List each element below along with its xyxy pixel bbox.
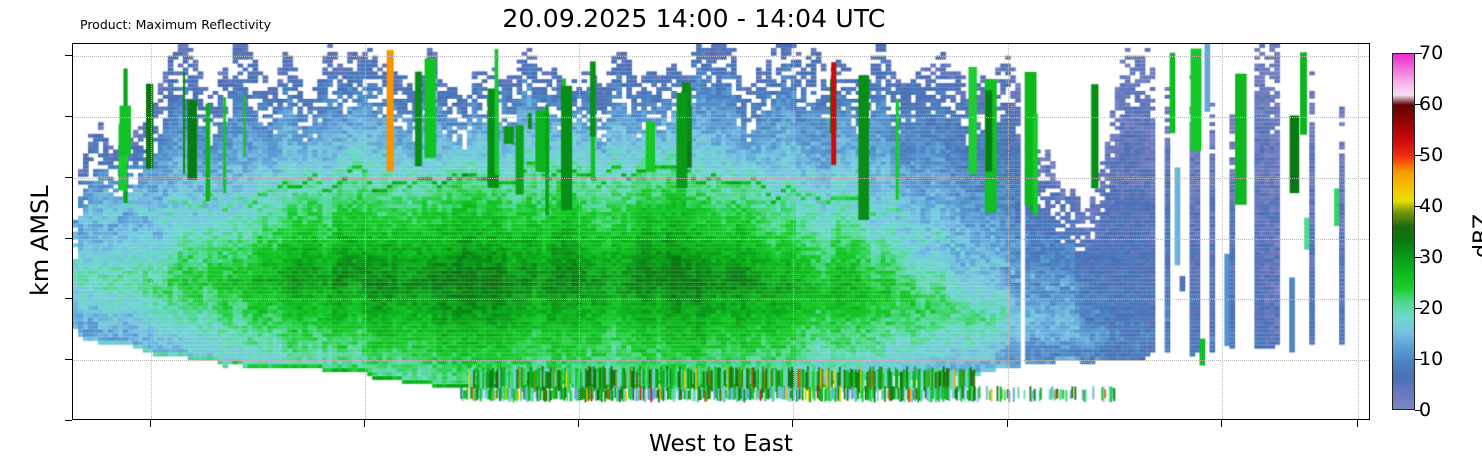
x-axis-tick — [1357, 420, 1358, 427]
y-axis-tick — [65, 420, 72, 421]
colorbar-tick-label: 70 — [1419, 42, 1443, 64]
plot-area — [72, 43, 1370, 420]
x-axis-tick — [364, 420, 365, 427]
colorbar-label: dBZ — [1470, 213, 1482, 257]
colorbar-tick-label: 0 — [1419, 399, 1431, 421]
colorbar-tick-label: 40 — [1419, 195, 1443, 217]
colorbar-tick-label: 50 — [1419, 144, 1443, 166]
radar-cross-section-figure: 20.09.2025 14:00 - 14:04 UTC Product: Ma… — [0, 0, 1482, 470]
x-axis-tick — [578, 420, 579, 427]
y-axis-tick — [65, 238, 72, 239]
y-axis-tick — [65, 359, 72, 360]
y-axis-tick — [65, 177, 72, 178]
colorbar — [1392, 53, 1415, 410]
x-axis-tick — [1007, 420, 1008, 427]
colorbar-tick-label: 20 — [1419, 297, 1443, 319]
colorbar-gradient — [1393, 54, 1414, 409]
x-axis-tick — [792, 420, 793, 427]
x-axis-tick — [150, 420, 151, 427]
colorbar-tick-label: 60 — [1419, 93, 1443, 115]
colorbar-tick-label: 30 — [1419, 246, 1443, 268]
product-subtitle: Product: Maximum Reflectivity — [80, 17, 271, 32]
y-axis-tick — [65, 116, 72, 117]
x-axis-tick — [1221, 420, 1222, 427]
y-axis-tick — [65, 298, 72, 299]
colorbar-tick-label: 10 — [1419, 348, 1443, 370]
reflectivity-heatmap — [73, 44, 1369, 419]
x-axis-label: West to East — [72, 431, 1370, 457]
y-axis-tick — [65, 55, 72, 56]
y-axis-label: km AMSL — [26, 185, 54, 296]
